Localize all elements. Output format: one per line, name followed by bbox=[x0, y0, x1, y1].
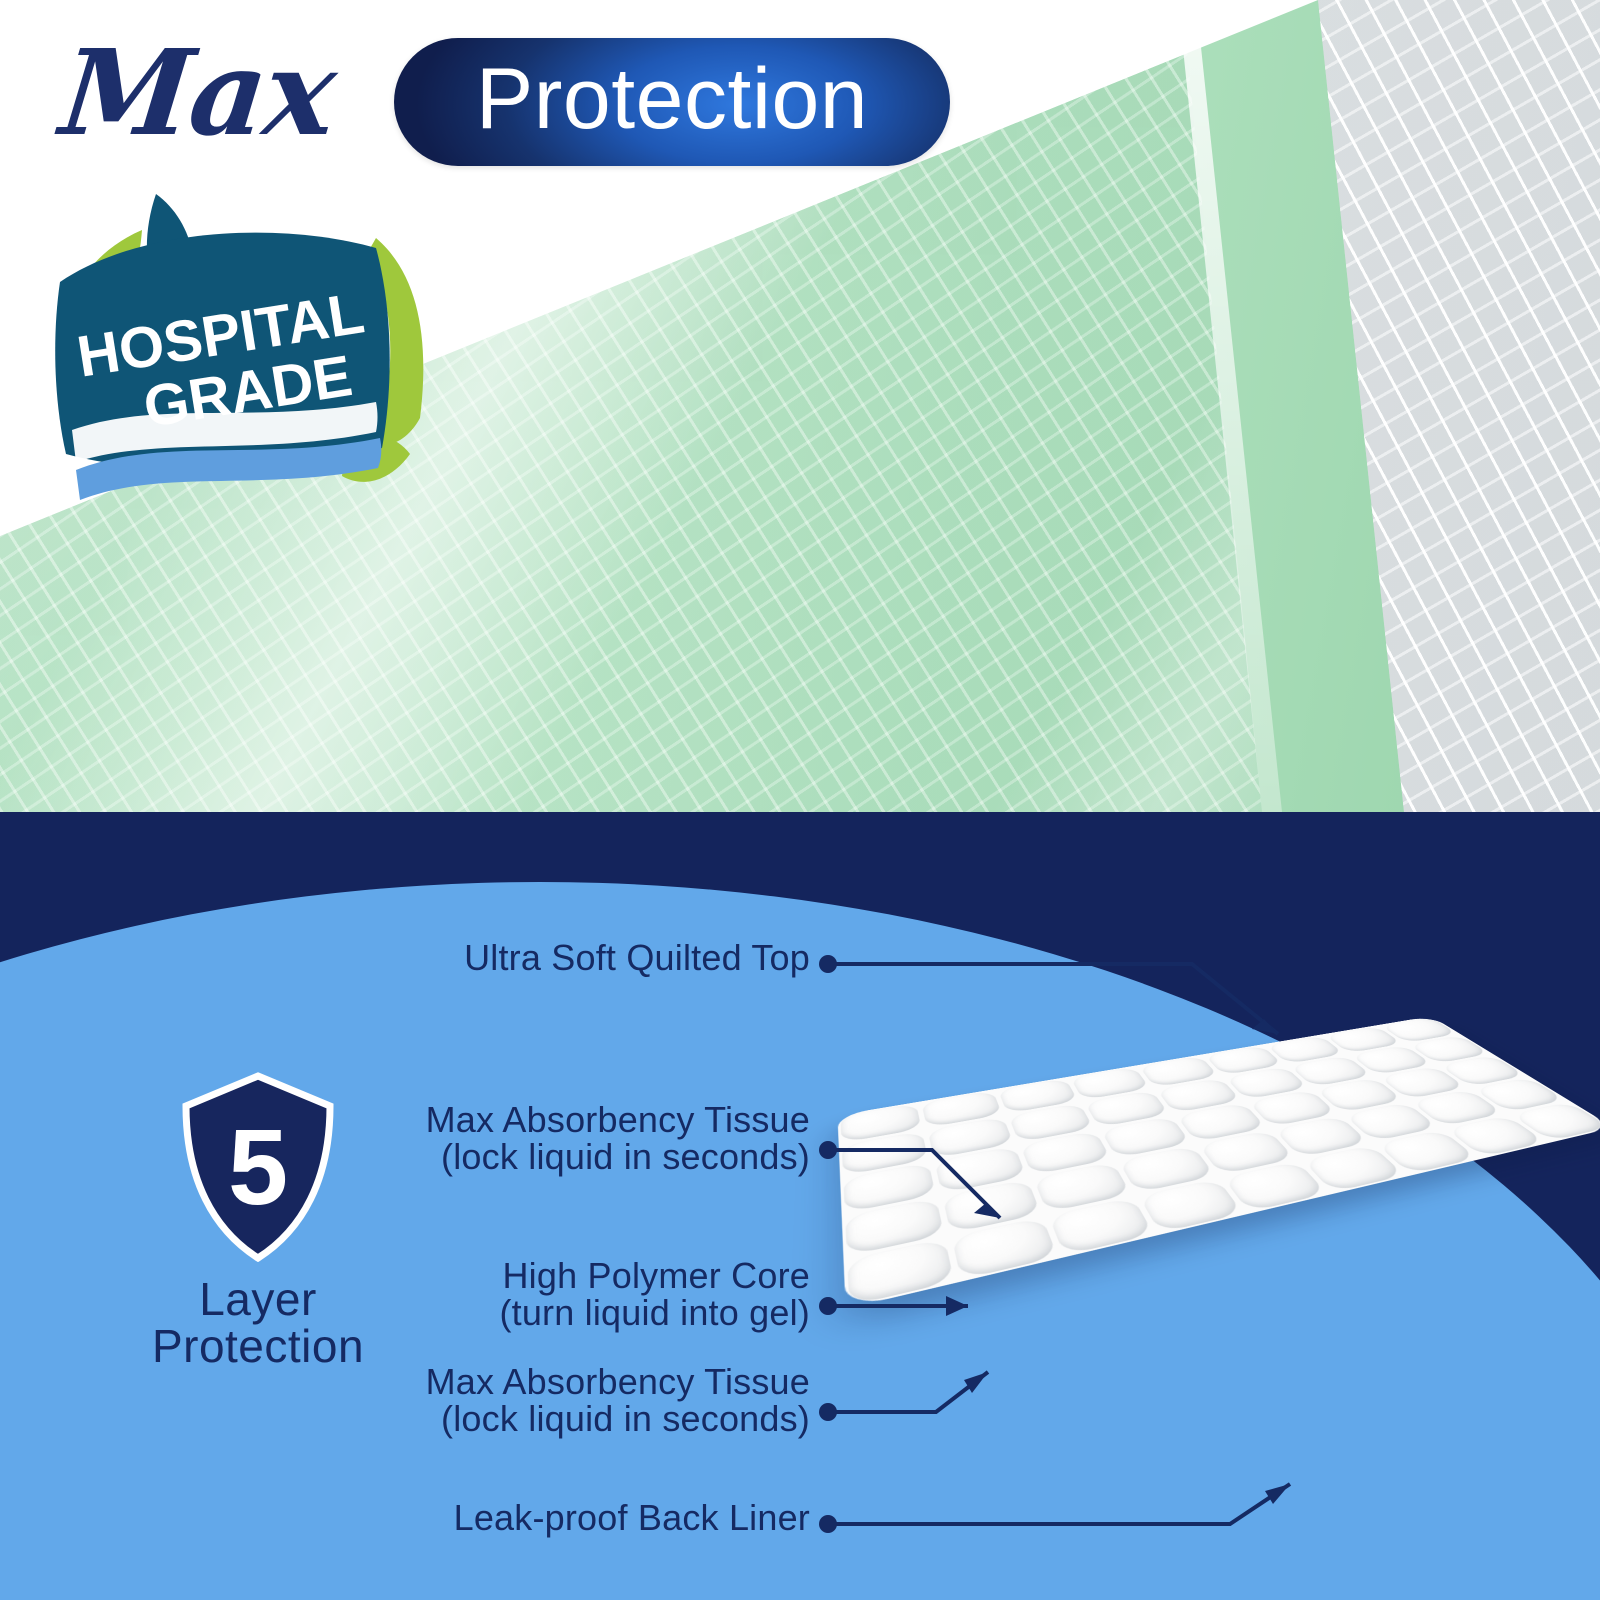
shield-number: 5 bbox=[178, 1072, 338, 1280]
top-product-photo-section: Max Protection bbox=[0, 0, 1600, 812]
label-ultra-soft-quilted-top: Ultra Soft Quilted Top bbox=[464, 940, 810, 977]
label-1-line1: Ultra Soft Quilted Top bbox=[464, 940, 810, 977]
max-wordmark: Max bbox=[56, 34, 340, 152]
protection-label: Protection bbox=[476, 56, 868, 148]
label-4-line1: Max Absorbency Tissue bbox=[426, 1364, 810, 1401]
brand-lockup: Max Protection bbox=[0, 0, 980, 520]
label-max-absorbency-tissue-lower: Max Absorbency Tissue (lock liquid in se… bbox=[426, 1364, 810, 1437]
product-infographic: Max Protection bbox=[0, 0, 1600, 1600]
hospital-grade-badge: HOSPITAL GRADE bbox=[46, 186, 446, 516]
label-5-line1: Leak-proof Back Liner bbox=[454, 1500, 810, 1537]
protection-pill: Protection bbox=[394, 38, 950, 166]
label-4-line2: (lock liquid in seconds) bbox=[426, 1401, 810, 1438]
shield-wrap: 5 bbox=[178, 1072, 338, 1262]
five-layer-shield-block: 5 Layer Protection bbox=[108, 1072, 408, 1370]
shield-caption: Layer Protection bbox=[108, 1276, 408, 1370]
quilted-top-layer-graphic bbox=[837, 1016, 1600, 1309]
label-3-line2: (turn liquid into gel) bbox=[499, 1295, 810, 1332]
layer-diagram-section: 5 Layer Protection bbox=[0, 812, 1600, 1600]
quilt-puff-grid bbox=[837, 1016, 1600, 1309]
label-max-absorbency-tissue-upper: Max Absorbency Tissue (lock liquid in se… bbox=[426, 1102, 810, 1175]
label-2-line1: Max Absorbency Tissue bbox=[426, 1102, 810, 1139]
label-2-line2: (lock liquid in seconds) bbox=[426, 1139, 810, 1176]
label-high-polymer-core: High Polymer Core (turn liquid into gel) bbox=[499, 1258, 810, 1331]
shield-caption-line2: Protection bbox=[152, 1320, 364, 1372]
label-3-line1: High Polymer Core bbox=[499, 1258, 810, 1295]
shield-caption-line1: Layer bbox=[199, 1273, 317, 1325]
hospital-grade-badge-graphic: HOSPITAL GRADE bbox=[46, 186, 446, 516]
label-leak-proof-back-liner: Leak-proof Back Liner bbox=[454, 1500, 810, 1537]
